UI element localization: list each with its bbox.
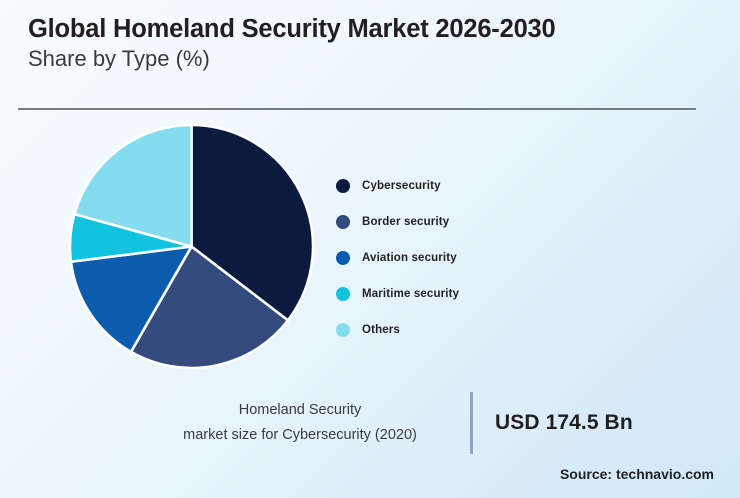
market-size-callout: Homeland Security market size for Cybers… [140,392,700,454]
callout-value: USD 174.5 Bn [495,411,633,435]
legend-dot-icon [336,179,350,193]
legend-item-cybersecurity[interactable]: Cybersecurity [336,168,566,204]
chart-legend: Cybersecurity Border security Aviation s… [336,168,566,348]
callout-line-2: market size for Cybersecurity (2020) [140,423,460,448]
legend-item-border-security[interactable]: Border security [336,204,566,240]
legend-item-aviation-security[interactable]: Aviation security [336,240,566,276]
pie-chart-svg [60,115,324,379]
legend-item-label: Others [362,324,400,336]
legend-item-label: Border security [362,216,449,228]
source-attribution: Source: technavio.com [560,466,714,482]
legend-item-label: Cybersecurity [362,180,441,192]
page-title: Global Homeland Security Market 2026-203… [28,14,688,44]
legend-item-maritime-security[interactable]: Maritime security [336,276,566,312]
infographic-canvas: Global Homeland Security Market 2026-203… [0,0,740,498]
legend-dot-icon [336,215,350,229]
chart-header: Global Homeland Security Market 2026-203… [28,14,688,72]
legend-item-others[interactable]: Others [336,312,566,348]
pie-slice-group [70,125,313,368]
pie-chart [60,115,324,379]
callout-divider [470,392,473,454]
callout-description: Homeland Security market size for Cybers… [140,398,460,449]
header-divider [18,108,696,110]
legend-dot-icon [336,323,350,337]
callout-line-1: Homeland Security [140,398,460,423]
legend-dot-icon [336,287,350,301]
page-subtitle: Share by Type (%) [28,46,688,72]
legend-item-label: Maritime security [362,288,459,300]
legend-item-label: Aviation security [362,252,457,264]
legend-dot-icon [336,251,350,265]
